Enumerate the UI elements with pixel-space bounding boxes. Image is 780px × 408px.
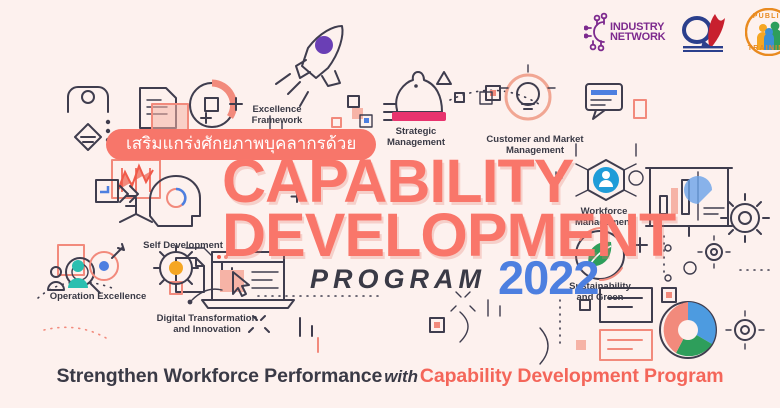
tagline-connector: with [382, 367, 420, 386]
bottom-tagline: Strengthen Workforce PerformancewithCapa… [0, 365, 780, 388]
promotional-banner: .dk { fill:none; stroke:#3f3d4e; stroke-… [0, 0, 780, 408]
logo-industry-network-line2: NETWORK [610, 32, 665, 42]
caption-line-1: Digital Transformation [140, 313, 274, 324]
caption-operation-excellence: Operation Excellence [34, 291, 162, 302]
tagline-part-1: Strengthen Workforce Performance [56, 365, 382, 387]
logo-public-training[interactable]: PUBLIC TRAINING [745, 8, 780, 56]
program-year-row: PROGRAM 2022 [310, 259, 599, 298]
people-target-icon [48, 244, 182, 294]
logo-row: INDUSTRY NETWORK [584, 8, 780, 56]
logo-public-training-line2: TRAINING [745, 45, 780, 52]
caption-line-1: Strategic [364, 126, 468, 137]
caption-line-2: Framework [225, 115, 329, 126]
headline-block: CAPABILITY DEVELOPMENT [222, 155, 675, 262]
logo-industry-network[interactable]: INDUSTRY NETWORK [584, 12, 665, 52]
logo-public-training-line1: PUBLIC [745, 13, 780, 20]
customer-idea-icon [501, 65, 555, 119]
caption-digital-transformation-and-innovation: Digital Transformation and Innovation [140, 313, 274, 335]
program-label: PROGRAM [310, 264, 486, 298]
headline-line-2: DEVELOPMENT [222, 209, 675, 261]
node-diamond-icon [68, 87, 110, 150]
caption-excellence-framework: Excellence Framework [225, 104, 329, 126]
headline-line-1: CAPABILITY [222, 155, 675, 207]
caption-line-1: Excellence [225, 104, 329, 115]
speech-bubble-icon [586, 84, 622, 119]
industry-network-icon [584, 12, 610, 52]
caption-line-1: Operation Excellence [34, 291, 162, 302]
chess-knight-icon [392, 72, 446, 121]
pie-chart-icon [660, 302, 716, 358]
rocket-icon [276, 26, 342, 106]
logo-ministry-emblem[interactable] [679, 10, 731, 54]
ministry-emblem-icon [679, 10, 731, 54]
caption-line-1: Customer and Market [470, 134, 600, 145]
caption-strategic-management: Strategic Management [364, 126, 468, 148]
square-decor-icons [332, 96, 396, 127]
tagline-part-2: Capability Development Program [420, 365, 724, 387]
caption-line-2: and Innovation [140, 324, 274, 335]
year-label: 2022 [498, 259, 599, 298]
